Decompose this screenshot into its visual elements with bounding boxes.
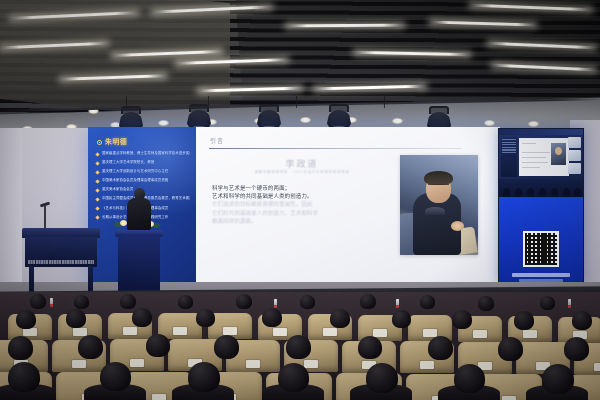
podium-front-panel [118,234,160,296]
left-wall-column [0,128,22,308]
upright-piano [22,228,100,300]
seat-number-tag [223,327,237,335]
audience-head [214,335,239,359]
audience-head [366,363,398,393]
audience-head [262,308,282,327]
seat-number-tag [323,328,337,336]
qr-code-graphic[interactable] [523,231,559,267]
seat-number-tag [373,329,387,337]
diamond-bullet-icon [95,170,99,174]
seat-number-tag [152,394,166,400]
audience-head [478,296,494,311]
list-item: 中国美术家协会会员及理事会理事成员资格 [96,178,190,183]
list-item: 国家级重点学科教授、博士生导师及国家科学技术进步奖获得者 [96,151,190,156]
list-item: 重庆理工大学艺术学院院长、教授 [96,160,190,165]
audience-head [420,295,435,309]
photo-hair [424,171,453,185]
circle-bullet-icon [97,140,102,145]
seat-number-tag [130,359,144,367]
recessed-downlight [158,120,169,126]
recessed-downlight [484,120,495,126]
livestream-video-area [499,129,583,185]
speaker-name: 朱明德 [105,137,127,147]
recessed-downlight [392,118,403,124]
livestream-slide-thumb [519,138,569,176]
presenter-body [127,198,151,230]
diamond-bullet-icon [95,216,99,220]
photo-collar [425,207,445,215]
audience-head [542,364,574,394]
diamond-bullet-icon [95,188,99,192]
list-item-label: 国家级重点学科教授、博士生导师及国家科学技术进步奖获得者 [102,151,190,155]
audience-head [358,336,382,359]
diamond-bullet-icon [95,197,99,201]
qr-panel [499,197,583,283]
speaker-bio-title: 朱明德 [97,137,127,147]
speaker-podium [118,226,160,296]
piano-keys [28,260,94,264]
audience-head [74,295,89,309]
audience-head [392,310,411,328]
audience-head [360,294,376,309]
seat-number-tag [273,328,287,336]
audience-head [236,294,252,309]
seat-number-tag [246,360,260,368]
seat-number-tag [423,329,437,337]
seat-number-tag [73,328,87,336]
list-item-label: 重庆理工大学艺术学院院长、教授 [102,160,154,164]
livestream-thumb-photo [551,143,566,165]
list-item-label: 中国美术家协会会员及理事会理事成员资格 [102,178,168,182]
water-bottle [396,299,399,308]
photo-glasses [428,184,449,188]
audience-head [8,362,40,392]
quote-line-faint: 它们的共同基础是人的创造力，艺术和科学 [212,210,372,218]
quote-line-faint: 都具同样的源泉。 [212,218,372,226]
ceiling [0,0,600,146]
slide-divider [209,148,461,149]
audience-head [8,336,33,360]
water-bottle [274,299,277,308]
diamond-bullet-icon [95,152,99,156]
audience-head [498,337,523,361]
photo-hand [451,221,464,231]
recessed-downlight [528,121,539,127]
audience-head [286,335,311,359]
audience-head [514,311,534,330]
seat-number-tag [594,363,600,371]
audience-head [188,362,220,392]
seat-number-tag [173,327,187,335]
seat-number-tag [304,360,318,368]
audience-head [78,335,103,359]
audience-head [300,295,315,309]
slide-quote-block: 科学与艺术是一个硬币的两面； 艺术和科学的共同基础是人类的创造力。 它们追求的目… [212,185,372,226]
quote-line-faint: 它们追求的目标都是真理的普遍性。因此 [212,201,372,209]
qr-caption [512,273,570,277]
slide-header: 引言 [210,136,224,145]
audience-head [540,296,555,310]
seat-number-tag [72,360,86,368]
audience-head [146,334,170,357]
audience-head [572,311,592,330]
audience-head [16,310,36,329]
seated-audience [0,292,600,400]
audience-head [66,309,86,328]
seat-number-tag [502,396,516,400]
presenter-silhouette [126,188,152,230]
diamond-bullet-icon [95,161,99,165]
audience-head [428,336,453,360]
presentation-slide: 引言 李政道 美籍华裔物理学家 · 1957年诺贝尔物理学奖获得者 科学与艺术是… [196,127,500,289]
seat-number-tag [420,361,434,369]
seat-number-tag [473,330,487,338]
recessed-downlight [300,117,311,123]
audience-head [278,363,309,392]
water-bottle [568,299,571,308]
audience-head [452,310,472,329]
diamond-bullet-icon [95,206,99,210]
list-item: 重庆理工大学创新设计与艺术研究中心主任 [96,169,190,174]
audience-head [30,294,46,309]
portrait-photo [400,155,478,255]
livestream-topbar [499,129,583,135]
livestream-side-text [502,139,516,154]
quote-line: 科学与艺术是一个硬币的两面； [212,185,372,193]
truss-cable [384,96,385,108]
diamond-bullet-icon [95,179,99,183]
livestream-right-tiles [568,137,582,179]
truss-cable [296,96,297,108]
audience-head [454,364,485,393]
audience-head [196,309,215,327]
audience-head [120,294,136,309]
livestream-audience-strip [499,179,583,197]
quote-line: 艺术和科学的共同基础是人类的创造力。 [212,193,372,201]
seat-number-tag [23,328,37,336]
livestream-side-screen[interactable] [498,128,584,284]
water-bottle [50,298,53,307]
seat-number-tag [123,327,137,335]
audience-head [132,308,152,327]
audience-head [564,337,589,361]
seat-number-tag [523,330,537,338]
audience-head [330,309,350,328]
list-item-label: 重庆理工大学创新设计与艺术研究中心主任 [102,169,168,173]
auditorium-photo: 朱明德 国家级重点学科教授、博士生导师及国家科学技术进步奖获得者 重庆理工大学艺… [0,0,600,400]
audience-head [178,295,193,309]
audience-head [100,362,131,391]
